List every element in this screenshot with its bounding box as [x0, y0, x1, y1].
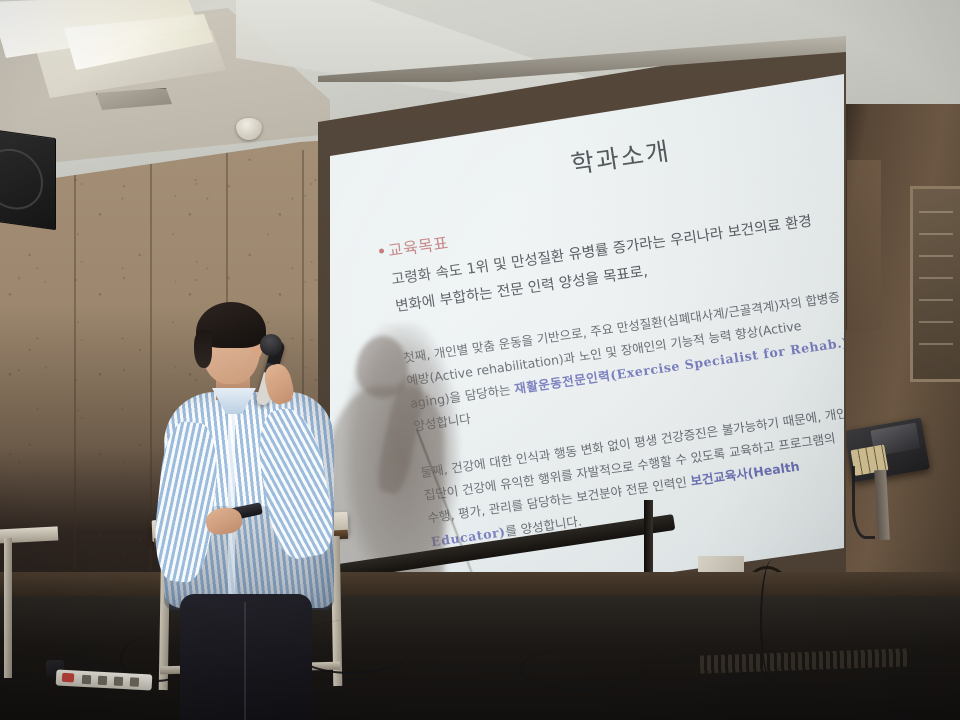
projection-screen-surface: 학과소개 교육목표 고령화 속도 1위 및 만성질환 유병률 증가라는 우리나라… — [330, 74, 844, 634]
bullet-heading-label: 교육목표 — [386, 229, 450, 261]
power-switch[interactable] — [62, 673, 74, 683]
side-table-leg — [4, 538, 12, 678]
right-wall-panel — [846, 160, 881, 330]
control-panel-cord — [852, 466, 875, 539]
presenter-trouser-seam — [244, 602, 246, 720]
cable — [520, 648, 642, 690]
presenter-hair-side — [194, 330, 212, 368]
presenter-shirt-placket — [228, 408, 235, 604]
framed-wall-poster — [910, 186, 960, 382]
presenter-trousers — [180, 594, 312, 720]
lecture-room-scene: 학과소개 교육목표 고령화 속도 1위 및 만성질환 유병률 증가라는 우리나라… — [0, 0, 960, 720]
wall-speaker-icon — [0, 130, 56, 230]
bullet-dot-icon — [379, 248, 385, 254]
presenter — [160, 296, 380, 720]
cable — [760, 560, 784, 682]
